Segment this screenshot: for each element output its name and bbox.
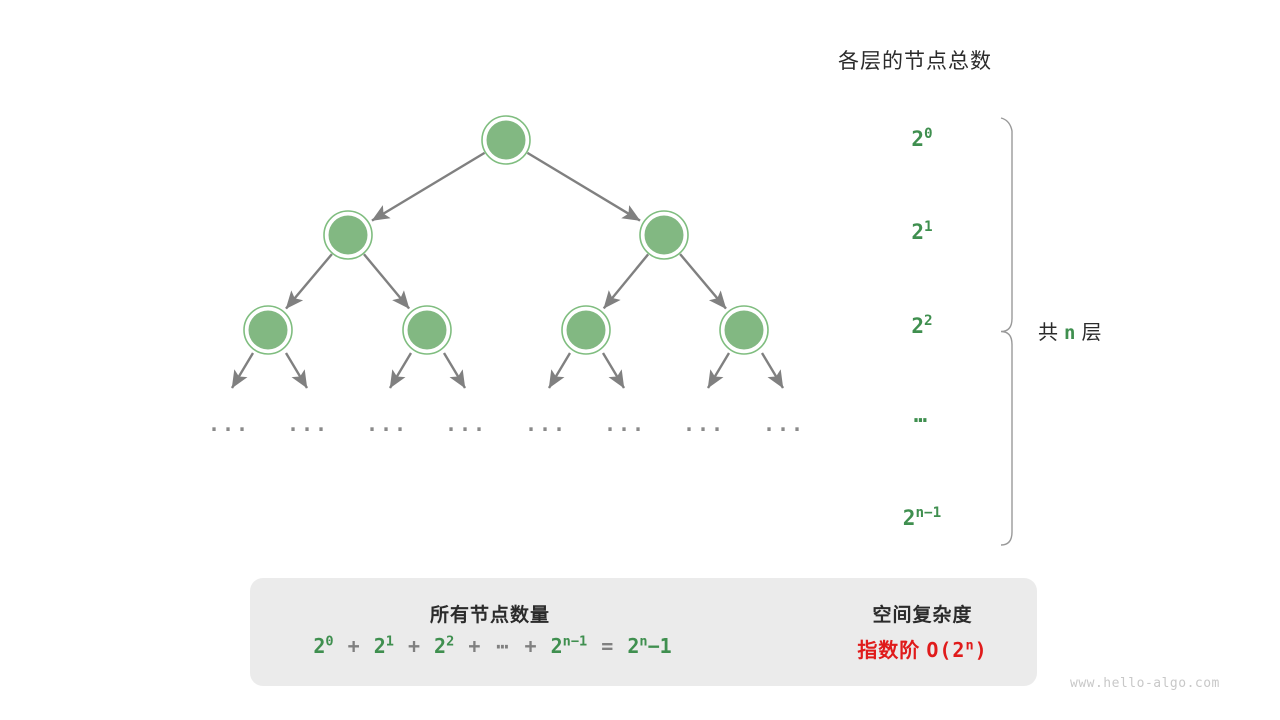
leaf-ellipsis-0: ...: [199, 412, 259, 436]
tree-edge: [364, 254, 409, 308]
tree-node-disc: [408, 311, 447, 350]
leaf-ellipsis-4: ...: [516, 412, 576, 436]
tree-stub-arrow: [444, 353, 465, 388]
level-count-label-4: 2n−1: [862, 506, 982, 530]
complexity-big-o: O(2n): [920, 638, 987, 662]
complexity-tail: ): [975, 638, 988, 662]
formula-power-2: 21: [374, 634, 394, 658]
tree-node: [244, 306, 292, 354]
tree-node-disc: [487, 121, 526, 160]
levels-caption-suffix: 层: [1081, 322, 1102, 344]
formula-power-base: 2: [551, 634, 563, 658]
tree-edge: [527, 153, 640, 221]
complexity-order-label: 指数阶: [857, 640, 920, 662]
formula-operator-1: +: [334, 634, 374, 658]
formula-operator-6: ⋯: [494, 634, 522, 658]
tree-stub-arrow: [286, 353, 307, 388]
tree-stub-arrows: [232, 353, 783, 388]
tree-edge: [286, 254, 332, 308]
formula-power-tail: −1: [648, 634, 672, 658]
formula-power-exponent: 0: [325, 633, 333, 649]
leaf-ellipsis-1: ...: [278, 412, 338, 436]
space-complexity-value: 指数阶O(2n): [820, 634, 1025, 663]
levels-caption-prefix: 共: [1038, 322, 1059, 344]
level-count-exponent: 2: [924, 313, 933, 329]
tree-node-disc: [725, 311, 764, 350]
tree-stub-arrow: [708, 353, 729, 388]
formula-power-8: 2n−1: [551, 634, 588, 658]
formula-power-10: 2n−1: [627, 634, 671, 658]
tree-node: [640, 211, 688, 259]
total-levels-caption: 共n层: [1038, 316, 1102, 345]
site-watermark: www.hello-algo.com: [1070, 676, 1220, 691]
formula-power-exponent: n−1: [563, 633, 588, 649]
level-count-exponent: 0: [924, 126, 933, 142]
tree-stub-arrow: [390, 353, 411, 388]
tree-node-disc: [567, 311, 606, 350]
per-level-count-title: 各层的节点总数: [838, 45, 992, 75]
tree-stub-arrow: [762, 353, 783, 388]
level-count-base: 2: [903, 506, 916, 530]
tree-node: [324, 211, 372, 259]
level-count-base: ⋯: [914, 408, 930, 433]
tree-stub-arrow: [232, 353, 253, 388]
tree-node-disc: [645, 216, 684, 255]
level-count-label-1: 21: [862, 220, 982, 244]
level-count-base: 2: [911, 314, 924, 338]
formula-power-0: 20: [313, 634, 333, 658]
tree-node-disc: [329, 216, 368, 255]
tree-edge: [372, 153, 485, 221]
formula-operator-7: +: [523, 634, 551, 658]
tree-nodes: [244, 116, 768, 354]
summary-panel: [250, 578, 1037, 686]
space-complexity-heading: 空间复杂度: [820, 600, 1025, 627]
level-count-exponent: n−1: [915, 505, 941, 521]
leaf-ellipsis-3: ...: [436, 412, 496, 436]
level-count-base: 2: [911, 220, 924, 244]
tree-node: [562, 306, 610, 354]
leaf-ellipsis-7: ...: [754, 412, 814, 436]
leaf-ellipsis-6: ...: [674, 412, 734, 436]
formula-power-base: 2: [374, 634, 386, 658]
tree-node-disc: [249, 311, 288, 350]
leaf-ellipsis-2: ...: [357, 412, 417, 436]
total-nodes-heading: 所有节点数量: [330, 600, 650, 627]
formula-operator-3: +: [394, 634, 434, 658]
diagram-canvas: 各层的节点总数 202122⋯2n−1 共n层 ................…: [0, 0, 1280, 720]
level-count-exponent: 1: [924, 219, 933, 235]
total-nodes-formula: 20 + 21 + 22 + ⋯ + 2n−1 = 2n−1: [275, 634, 710, 658]
tree-node: [720, 306, 768, 354]
complexity-base: O(2: [926, 638, 965, 662]
level-count-label-0: 20: [862, 127, 982, 151]
tree-node: [482, 116, 530, 164]
level-count-base: 2: [911, 127, 924, 151]
formula-power-exponent: n: [639, 633, 647, 649]
formula-power-base: 2: [627, 634, 639, 658]
tree-edge: [680, 254, 726, 308]
formula-operator-5: +: [454, 634, 494, 658]
formula-power-exponent: 1: [386, 633, 394, 649]
complexity-exponent: n: [965, 637, 974, 653]
formula-operator-9: =: [587, 634, 627, 658]
tree-edge: [604, 254, 648, 308]
tree-stub-arrow: [603, 353, 624, 388]
formula-power-base: 2: [434, 634, 446, 658]
tree-node: [403, 306, 451, 354]
level-count-label-3: ⋯: [862, 408, 982, 433]
level-brace: [1001, 118, 1012, 545]
tree-stub-arrow: [549, 353, 570, 388]
formula-power-4: 22: [434, 634, 454, 658]
formula-power-base: 2: [313, 634, 325, 658]
leaf-ellipsis-5: ...: [595, 412, 655, 436]
level-count-label-2: 22: [862, 314, 982, 338]
levels-variable: n: [1059, 322, 1081, 344]
